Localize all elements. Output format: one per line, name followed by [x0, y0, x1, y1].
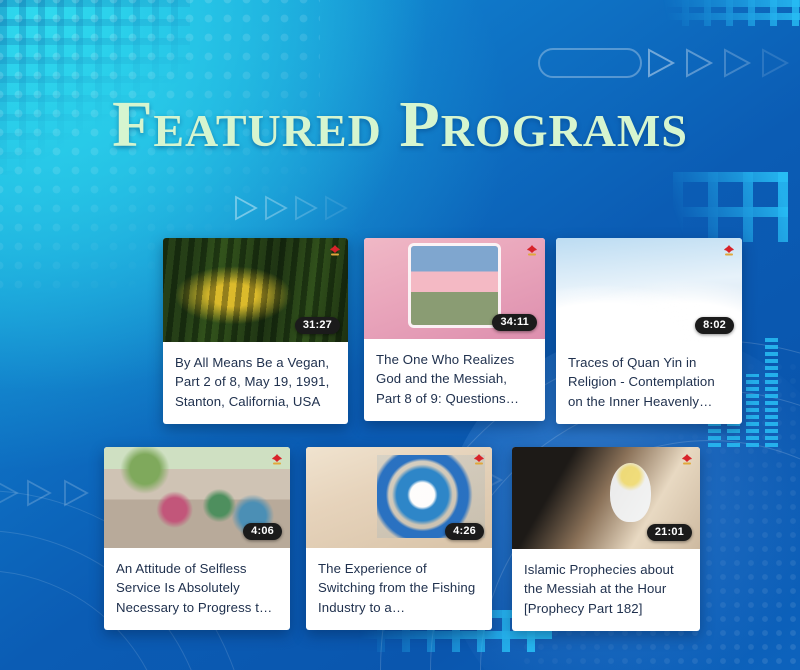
logo-watermark-icon — [326, 242, 343, 259]
duration-badge: 8:02 — [695, 317, 734, 335]
card-thumbnail[interactable]: 4:06 — [104, 447, 290, 548]
program-card[interactable]: 21:01 Islamic Prophecies about the Messi… — [512, 447, 700, 631]
card-title: The One Who Realizes God and the Messiah… — [364, 339, 545, 421]
card-thumbnail[interactable]: 21:01 — [512, 447, 700, 549]
card-title: Traces of Quan Yin in Religion - Contemp… — [556, 342, 742, 424]
duration-badge: 34:11 — [492, 314, 537, 332]
program-card[interactable]: 34:11 The One Who Realizes God and the M… — [364, 238, 545, 421]
card-thumbnail[interactable]: 4:26 — [306, 447, 492, 548]
square-grid-top-right — [660, 0, 800, 26]
featured-programs-banner: Featured Programs 31:27 By All Means Be … — [0, 0, 800, 670]
card-title: By All Means Be a Vegan, Part 2 of 8, Ma… — [163, 342, 348, 424]
card-title: Islamic Prophecies about the Messiah at … — [512, 549, 700, 631]
logo-watermark-icon — [678, 451, 695, 468]
card-thumbnail[interactable]: 8:02 — [556, 238, 742, 342]
program-card[interactable]: 4:26 The Experience of Switching from th… — [306, 447, 492, 630]
logo-watermark-icon — [720, 242, 737, 259]
duration-badge: 4:06 — [243, 523, 282, 541]
program-card[interactable]: 4:06 An Attitude of Selfless Service Is … — [104, 447, 290, 630]
square-grid-right — [673, 172, 788, 242]
program-card[interactable]: 8:02 Traces of Quan Yin in Religion - Co… — [556, 238, 742, 424]
card-title: The Experience of Switching from the Fis… — [306, 548, 492, 630]
duration-badge: 21:01 — [647, 524, 692, 542]
logo-watermark-icon — [268, 451, 285, 468]
card-thumbnail[interactable]: 34:11 — [364, 238, 545, 339]
duration-badge: 4:26 — [445, 523, 484, 541]
card-thumbnail[interactable]: 31:27 — [163, 238, 348, 342]
pill-outline-decoration — [538, 48, 642, 78]
card-title: An Attitude of Selfless Service Is Absol… — [104, 548, 290, 630]
logo-watermark-icon — [523, 242, 540, 259]
duration-badge: 31:27 — [295, 317, 340, 335]
page-title: Featured Programs — [0, 92, 800, 158]
logo-watermark-icon — [470, 451, 487, 468]
program-card[interactable]: 31:27 By All Means Be a Vegan, Part 2 of… — [163, 238, 348, 424]
